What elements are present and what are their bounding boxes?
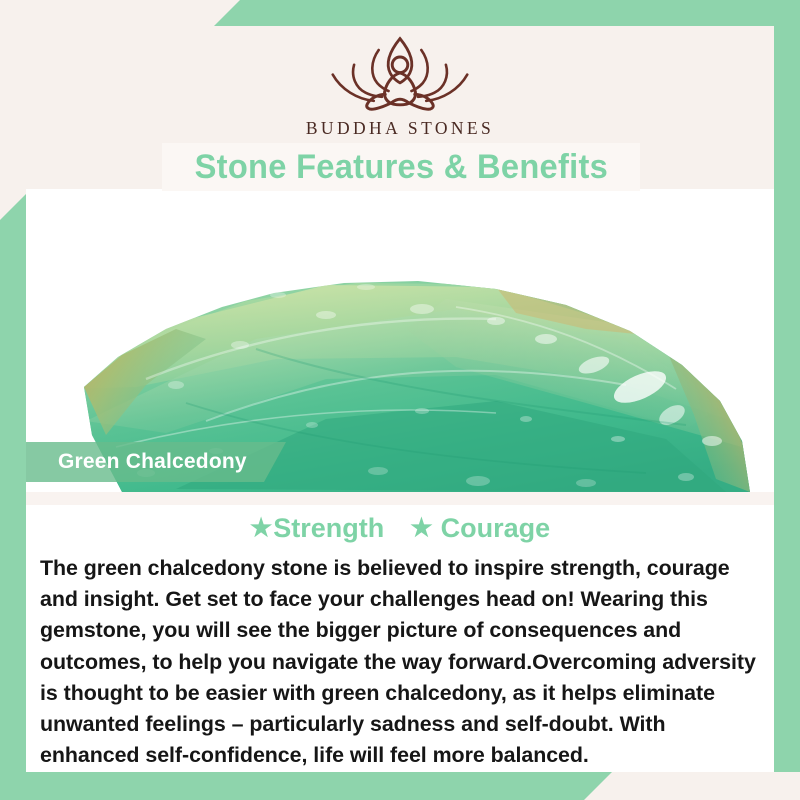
title-banner: Stone Features & Benefits (162, 143, 640, 191)
star-icon: ★ (410, 516, 432, 541)
frame-top-accent (214, 0, 800, 26)
divider-strip (26, 492, 774, 505)
benefit-courage: ★ Courage (410, 513, 550, 544)
frame-left-accent (0, 194, 26, 800)
frame-bottom-accent (0, 772, 612, 800)
stone-name-label: Green Chalcedony (58, 450, 247, 474)
poster: BUDDHA STONES Stone Features & Benefits (0, 0, 800, 800)
benefits-row: ★ Strength ★ Courage (26, 505, 774, 551)
stone-name-badge: Green Chalcedony (26, 442, 286, 482)
page-title: Stone Features & Benefits (194, 148, 607, 187)
benefit-strength: ★ Strength (250, 513, 384, 544)
frame-right-accent (774, 0, 800, 772)
brand-name: BUDDHA STONES (306, 118, 494, 139)
page-surface: BUDDHA STONES Stone Features & Benefits (26, 26, 774, 772)
benefit-label: Courage (441, 513, 551, 544)
lotus-meditation-icon (318, 32, 482, 114)
brand-block: BUDDHA STONES (26, 26, 774, 139)
stone-photo: Green Chalcedony (26, 189, 774, 492)
description-text: The green chalcedony stone is believed t… (40, 553, 762, 771)
benefit-label: Strength (273, 513, 384, 544)
star-icon: ★ (250, 516, 272, 541)
